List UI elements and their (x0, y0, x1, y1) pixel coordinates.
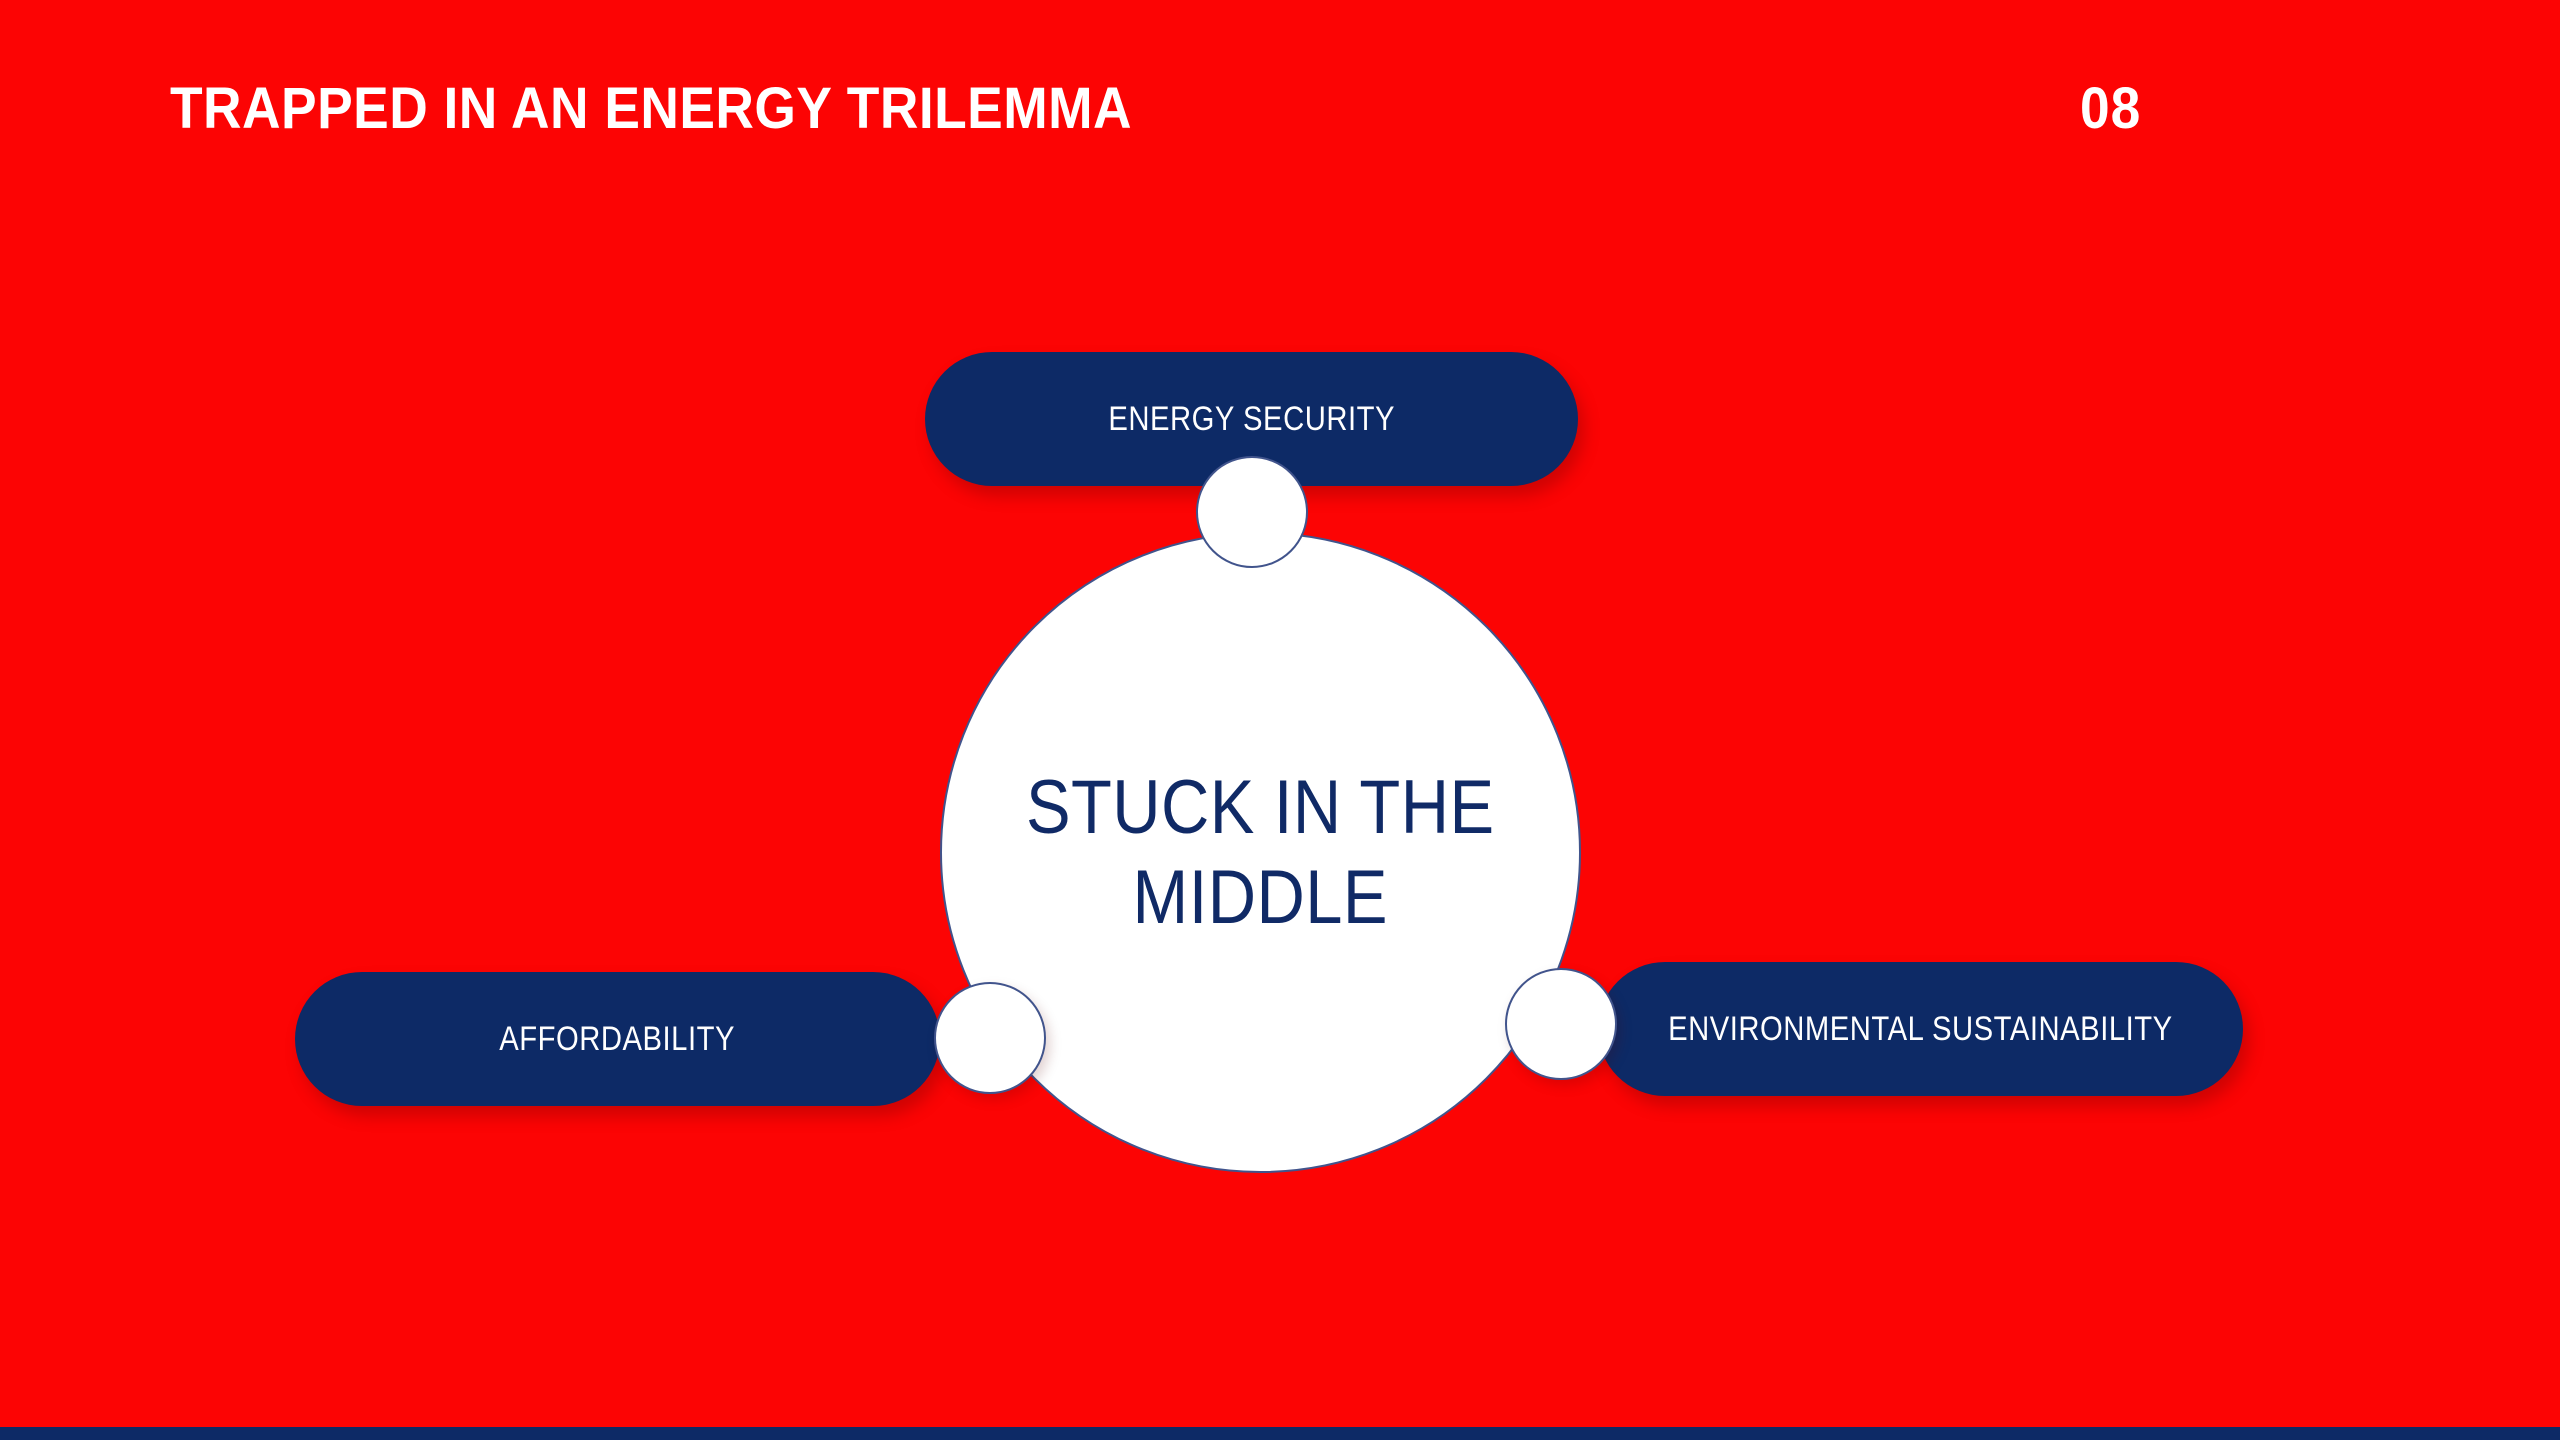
slide-canvas: TRAPPED IN AN ENERGY TRILEMMA 08 ENERGY … (0, 0, 2560, 1440)
footer-accent-bar (0, 1427, 2560, 1440)
node-environmental-sustainability[interactable]: ENVIRONMENTAL SUSTAINABILITY (1598, 962, 2243, 1096)
connector-dot-right (1505, 968, 1617, 1080)
node-affordability[interactable]: AFFORDABILITY (295, 972, 940, 1106)
connector-dot-left (934, 982, 1046, 1094)
node-affordability-label: AFFORDABILITY (500, 1020, 736, 1059)
center-circle-label: STUCK IN THE MIDDLE (1026, 763, 1495, 942)
center-circle[interactable]: STUCK IN THE MIDDLE (940, 532, 1581, 1173)
node-environmental-sustainability-label: ENVIRONMENTAL SUSTAINABILITY (1668, 1010, 2173, 1049)
trilemma-diagram: ENERGY SECURITY AFFORDABILITY ENVIRONMEN… (0, 0, 2560, 1440)
connector-dot-top (1196, 456, 1308, 568)
node-energy-security-label: ENERGY SECURITY (1108, 400, 1395, 439)
